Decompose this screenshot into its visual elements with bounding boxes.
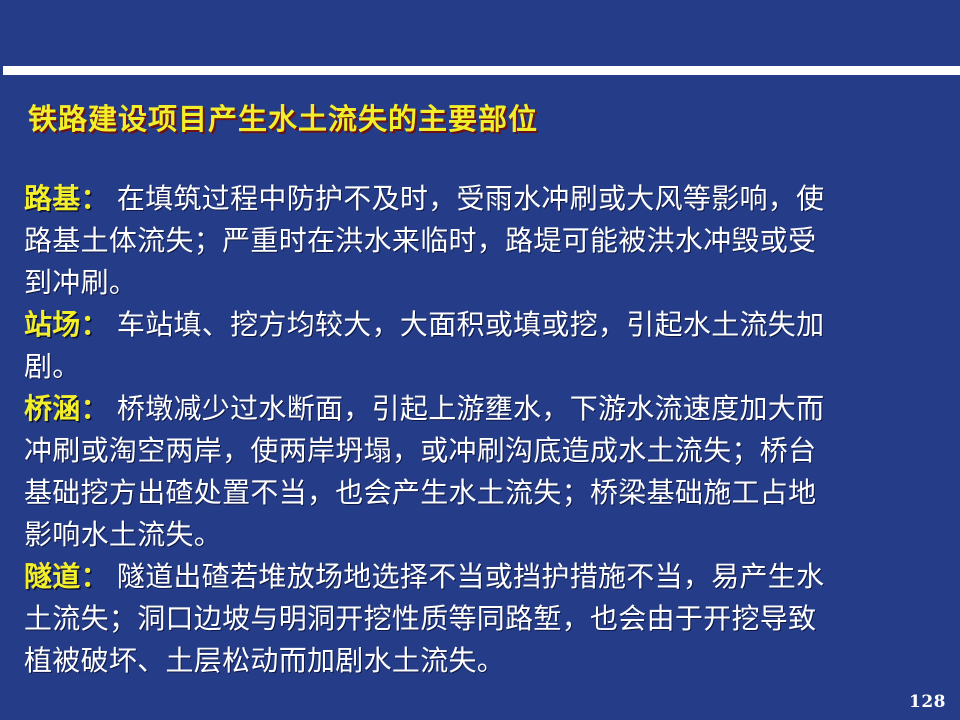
- body-line-text: 植被破坏、土层松动而加剧水土流失。: [24, 644, 505, 677]
- body-paragraph: 隧道：隧道出碴若堆放场地选择不当或挡护措施不当，易产生水土流失；洞口边坡与明洞开…: [24, 556, 940, 682]
- paragraph-label: 隧道：: [24, 560, 109, 593]
- body-line: 植被破坏、土层松动而加剧水土流失。: [24, 640, 940, 682]
- body-line-text: 路基土体流失；严重时在洪水来临时，路堤可能被洪水冲毁或受: [24, 224, 816, 257]
- body-line-text: 影响水土流失。: [24, 518, 222, 551]
- body-line: 路基：在填筑过程中防护不及时，受雨水冲刷或大风等影响，使: [24, 178, 940, 220]
- page-number: 128: [909, 692, 946, 712]
- body-line: 基础挖方出碴处置不当，也会产生水土流失；桥梁基础施工占地: [24, 472, 940, 514]
- body-line-text: 桥墩减少过水断面，引起上游壅水，下游水流速度加大而: [117, 392, 825, 425]
- body-paragraph: 路基：在填筑过程中防护不及时，受雨水冲刷或大风等影响，使路基土体流失；严重时在洪…: [24, 178, 940, 304]
- body-line-text: 基础挖方出碴处置不当，也会产生水土流失；桥梁基础施工占地: [24, 476, 816, 509]
- body-line-text: 隧道出碴若堆放场地选择不当或挡护措施不当，易产生水: [117, 560, 825, 593]
- body-line: 桥涵：桥墩减少过水断面，引起上游壅水，下游水流速度加大而: [24, 388, 940, 430]
- body-paragraph: 桥涵：桥墩减少过水断面，引起上游壅水，下游水流速度加大而冲刷或淘空两岸，使两岸坍…: [24, 388, 940, 556]
- body-line: 路基土体流失；严重时在洪水来临时，路堤可能被洪水冲毁或受: [24, 220, 940, 262]
- body-line-text: 在填筑过程中防护不及时，受雨水冲刷或大风等影响，使: [117, 182, 825, 215]
- body-line: 隧道：隧道出碴若堆放场地选择不当或挡护措施不当，易产生水: [24, 556, 940, 598]
- body-line-text: 剧。: [24, 350, 81, 383]
- body-line: 冲刷或淘空两岸，使两岸坍塌，或冲刷沟底造成水土流失；桥台: [24, 430, 940, 472]
- body-line-text: 车站填、挖方均较大，大面积或填或挖，引起水土流失加: [117, 308, 825, 341]
- body-line-text: 到冲刷。: [24, 266, 137, 299]
- body-line: 影响水土流失。: [24, 514, 940, 556]
- body-line-text: 冲刷或淘空两岸，使两岸坍塌，或冲刷沟底造成水土流失；桥台: [24, 434, 816, 467]
- body-line: 站场：车站填、挖方均较大，大面积或填或挖，引起水土流失加: [24, 304, 940, 346]
- slide-header-band: [0, 0, 960, 66]
- paragraph-label: 桥涵：: [24, 392, 109, 425]
- paragraph-label: 路基：: [24, 182, 109, 215]
- presentation-slide: 铁路建设项目产生水土流失的主要部位 路基：在填筑过程中防护不及时，受雨水冲刷或大…: [0, 0, 960, 720]
- body-line: 剧。: [24, 346, 940, 388]
- body-line-text: 土流失；洞口边坡与明洞开挖性质等同路堑，也会由于开挖导致: [24, 602, 816, 635]
- body-line: 到冲刷。: [24, 262, 940, 304]
- slide-body: 路基：在填筑过程中防护不及时，受雨水冲刷或大风等影响，使路基土体流失；严重时在洪…: [24, 178, 940, 682]
- body-line: 土流失；洞口边坡与明洞开挖性质等同路堑，也会由于开挖导致: [24, 598, 940, 640]
- slide-title: 铁路建设项目产生水土流失的主要部位: [28, 101, 538, 137]
- body-paragraph: 站场：车站填、挖方均较大，大面积或填或挖，引起水土流失加剧。: [24, 304, 940, 388]
- header-divider-rule: [3, 66, 960, 75]
- paragraph-label: 站场：: [24, 308, 109, 341]
